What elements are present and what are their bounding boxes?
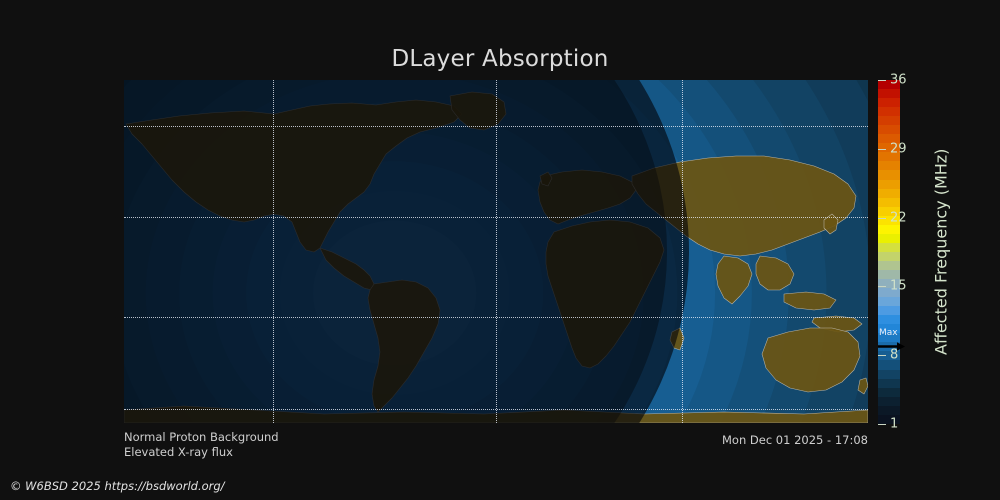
colorbar-band <box>878 379 900 388</box>
colorbar-band <box>878 261 900 270</box>
app-root: DLayer Absorption <box>0 0 1000 500</box>
colorbar-band <box>878 198 900 207</box>
colorbar-band <box>878 297 900 306</box>
colorbar-tick <box>878 149 886 150</box>
colorbar-band <box>878 388 900 397</box>
colorbar-band <box>878 98 900 107</box>
colorbar-tick-label: 1 <box>890 417 898 432</box>
max-marker-label: Max <box>879 328 898 338</box>
colorbar-band <box>878 225 900 234</box>
copyright-text: © W6BSD 2025 https://bsdworld.org/ <box>10 479 225 493</box>
night-terminator-shade-soft <box>124 80 667 423</box>
colorbar-tick <box>878 355 886 356</box>
colorbar-tick-label: 22 <box>890 210 907 225</box>
colorbar-band <box>878 170 900 179</box>
colorbar-band <box>878 116 900 125</box>
colorbar-tick-label: 36 <box>890 73 907 88</box>
colorbar-tick <box>878 286 886 287</box>
colorbar-tick <box>878 80 886 81</box>
proton-status-text: Normal Proton Background <box>124 430 279 444</box>
xray-status-text: Elevated X-ray flux <box>124 445 233 459</box>
colorbar-tick <box>878 218 886 219</box>
colorbar-band <box>878 107 900 116</box>
max-arrow-icon <box>878 342 906 351</box>
colorbar-band <box>878 252 900 261</box>
colorbar-band <box>878 315 900 324</box>
colorbar-band <box>878 89 900 98</box>
colorbar-tick <box>878 424 886 425</box>
colorbar-band <box>878 180 900 189</box>
colorbar-band <box>878 370 900 379</box>
colorbar[interactable] <box>878 80 900 424</box>
colorbar-band <box>878 234 900 243</box>
colorbar-band <box>878 397 900 406</box>
colorbar-tick-label: 29 <box>890 141 907 156</box>
colorbar-tick-label: 15 <box>890 279 907 294</box>
colorbar-band <box>878 161 900 170</box>
timestamp-text: Mon Dec 01 2025 - 17:08 <box>722 433 868 447</box>
colorbar-band <box>878 125 900 134</box>
colorbar-band <box>878 243 900 252</box>
page-title: DLayer Absorption <box>0 46 1000 72</box>
colorbar-band <box>878 189 900 198</box>
colorbar-band <box>878 406 900 415</box>
colorbar-band <box>878 270 900 279</box>
colorbar-gradient <box>878 80 900 424</box>
colorbar-axis-label: Affected Frequency (MHz) <box>928 80 954 424</box>
world-map-panel[interactable] <box>124 80 868 423</box>
colorbar-band <box>878 306 900 315</box>
max-marker: Max <box>878 328 908 352</box>
